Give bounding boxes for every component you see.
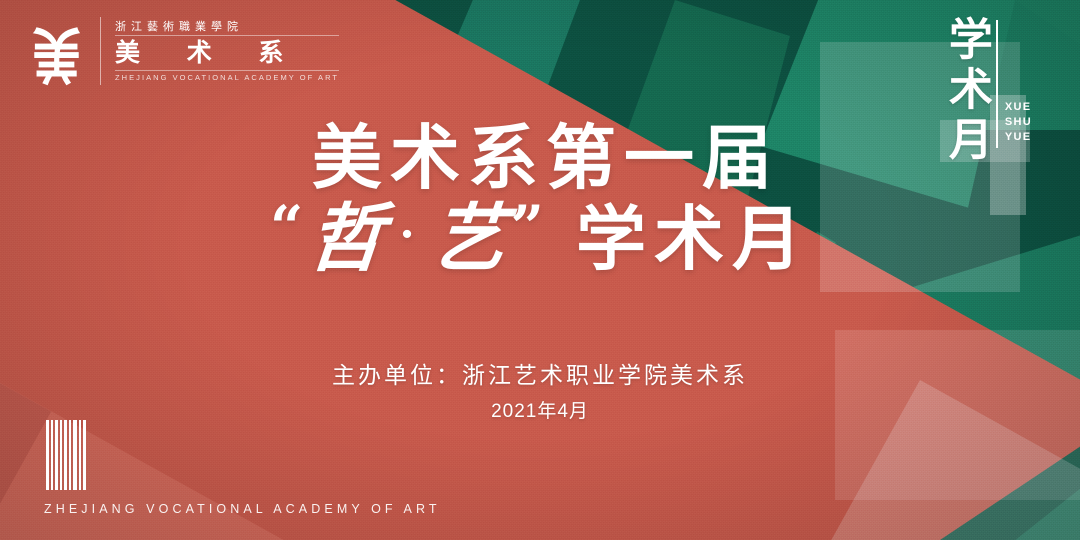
logo-department-name: 美 术 系 xyxy=(115,35,339,71)
title-line-2: “ 哲 · 艺 ” 学术月 xyxy=(0,196,1080,282)
logo-english-name: ZHEJIANG VOCATIONAL ACADEMY OF ART xyxy=(115,72,339,83)
academy-logo: 美 浙江藝術職業學院 美 术 系 ZHEJIANG VOCATIONAL ACA… xyxy=(32,14,339,88)
footer-mark: ZHEJIANG VOCATIONAL ACADEMY OF ART xyxy=(44,420,441,516)
title-separator: · xyxy=(389,192,428,278)
title-line-2-tail: 学术月 xyxy=(576,196,810,282)
badge-pinyin-line-1: XUE xyxy=(1005,100,1032,115)
logo-mark-icon: 美 xyxy=(37,16,80,86)
quote-open-mark: “ xyxy=(270,184,307,270)
quote-close-mark: ” xyxy=(511,184,548,270)
title-word-zhe: 哲 xyxy=(306,196,392,282)
title-word-yi: 艺 xyxy=(427,196,513,282)
logo-institution-name: 浙江藝術職業學院 xyxy=(115,20,339,34)
subtitle-block: 主办单位：浙江艺术职业学院美术系 2021年4月 xyxy=(0,358,1080,428)
logo-text-block: 浙江藝術職業學院 美 术 系 ZHEJIANG VOCATIONAL ACADE… xyxy=(100,17,339,85)
footer-english-name: ZHEJIANG VOCATIONAL ACADEMY OF ART xyxy=(44,502,441,516)
main-title: 美术系第一届 “ 哲 · 艺 ” 学术月 xyxy=(0,120,1080,282)
subtitle-organizer: 主办单位：浙江艺术职业学院美术系 xyxy=(0,358,1080,392)
barcode-mark-icon xyxy=(46,420,86,490)
poster-canvas: 美 美 美 美 浙江藝術職業學院 美 术 系 ZHEJIANG VOCATION… xyxy=(0,0,1080,540)
